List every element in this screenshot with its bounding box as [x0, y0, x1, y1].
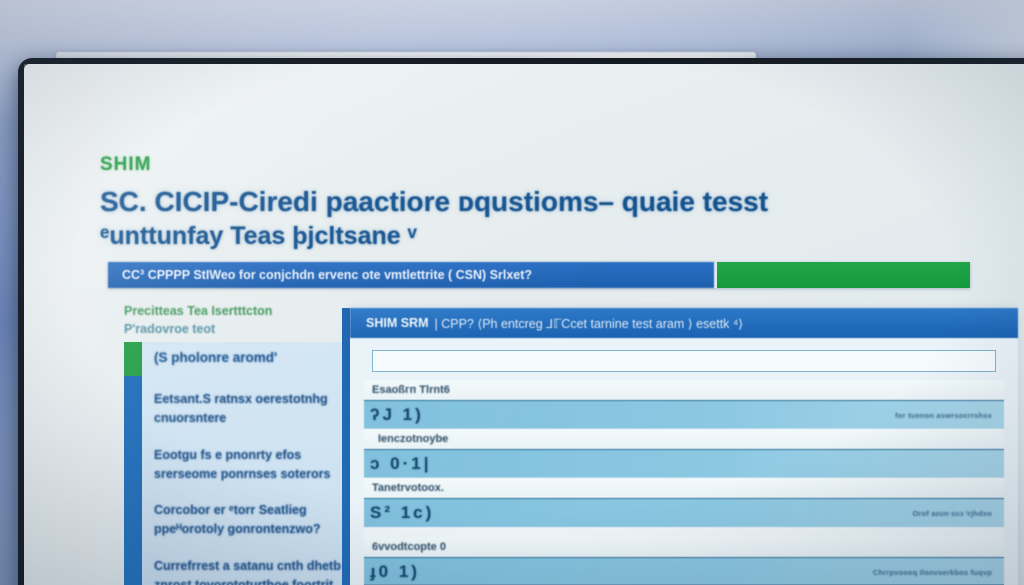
sidebar-accent-green: [124, 342, 142, 376]
panel-body: Esaoßᴦᴨ Tlrnt6 ʔJ 1) for tuenon aswrsocr…: [350, 338, 1018, 585]
page-title-line-1: SC. CICIP-Ciredi paactiore ᴅqustioms– qu…: [100, 186, 768, 217]
screenshot-stage: SHIM SC. CICIP-Ciredi paactiore ᴅqustiom…: [0, 0, 1024, 585]
row-spacer: [364, 527, 1004, 537]
field-label-2: Tanetrvotoox.: [364, 478, 1004, 498]
notice-banner-text[interactable]: CC³ CPPPP StIWeo for conjchdn ervenc ote…: [108, 262, 714, 288]
field-value-0: ʔJ 1): [370, 405, 424, 425]
page-title-line-2: ᵉunttunfay Teas þjcltsane ᵛ: [100, 220, 780, 252]
sidebar-heading-line-1: Precitteas Tea Isertttcton: [124, 302, 344, 320]
notice-banner-green-segment: [714, 262, 970, 288]
sidebar-item-2[interactable]: Eootgu fs e pnonrty efos srerseome ponrn…: [154, 446, 350, 484]
field-row-2[interactable]: S² 1c) Orof aɪʊn·ɪʊɔ ᵗrjhdxo: [364, 498, 1004, 527]
panel-header-title: SHIM SRM: [366, 316, 429, 330]
sidebar-heading-line-2: P'radovroe teot: [124, 320, 344, 338]
sidebar-accent-blue: [124, 376, 142, 585]
panel-header: SHIM SRM | CPP? ⟨Ph entcreg ⅃ℾCcet tarni…: [350, 308, 1018, 338]
search-input[interactable]: [372, 350, 996, 372]
field-row-3[interactable]: ɟ0 1) Chrrpvooeq Ilonvserkbos fuqvp: [364, 557, 1004, 585]
page-title: SC. CICIP-Ciredi paactiore ᴅqustioms– qu…: [100, 184, 780, 252]
field-label-3: 6vvodtcopte 0: [364, 537, 1004, 557]
panel-header-meta: | CPP? ⟨Ph entcreg ⅃ℾCcet tarnine test a…: [435, 316, 744, 331]
field-label-0: Esaoßᴦᴨ Tlrnt6: [364, 380, 1004, 400]
field-row-0[interactable]: ʔJ 1) for tuenon aswrsocrrshsx: [364, 400, 1004, 429]
field-value-1: ͻ 0·1|: [370, 454, 432, 474]
sidebar-item-0[interactable]: (S pholonre aromd': [154, 348, 350, 368]
web-page: SHIM SC. CICIP-Ciredi paactiore ᴅqustiom…: [24, 64, 1024, 585]
brand-logo[interactable]: SHIM: [100, 154, 152, 176]
field-hint-2: Orof aɪʊn·ɪʊɔ ᵗrjhdxo: [912, 509, 992, 518]
sidebar-item-1[interactable]: Eetsant.S ratnsx oerestotnhg cnuorsntere: [154, 390, 350, 428]
notice-banner: CC³ CPPPP StIWeo for conjchdn ervenc ote…: [108, 262, 970, 288]
sidebar-item-3[interactable]: Corcobor er ᵉtorr Seatlieg ppeᴴorotoly g…: [154, 501, 350, 539]
field-hint-0: for tuenon aswrsocrrshsx: [895, 411, 992, 420]
sidebar-item-4[interactable]: Currefrrest a satanu cnth dhetb znrost t…: [154, 557, 350, 585]
sidebar-heading: Precitteas Tea Isertttcton P'radovroe te…: [124, 302, 344, 338]
monitor-screen: SHIM SC. CICIP-Ciredi paactiore ᴅqustiom…: [24, 64, 1024, 585]
field-value-2: S² 1c): [370, 503, 434, 523]
sidebar-item-list: (S pholonre aromd' Eetsant.S ratnsx oere…: [154, 348, 350, 585]
page-left-gutter: [24, 64, 102, 585]
field-value-3: ɟ0 1): [370, 562, 420, 582]
main-panel: SHIM SRM | CPP? ⟨Ph entcreg ⅃ℾCcet tarni…: [350, 308, 1018, 585]
field-hint-3: Chrrpvooeq Ilonvserkbos fuqvp: [873, 568, 992, 577]
field-row-1[interactable]: ͻ 0·1|: [364, 449, 1004, 478]
field-label-1: Ienczotnoybe: [364, 429, 1004, 449]
